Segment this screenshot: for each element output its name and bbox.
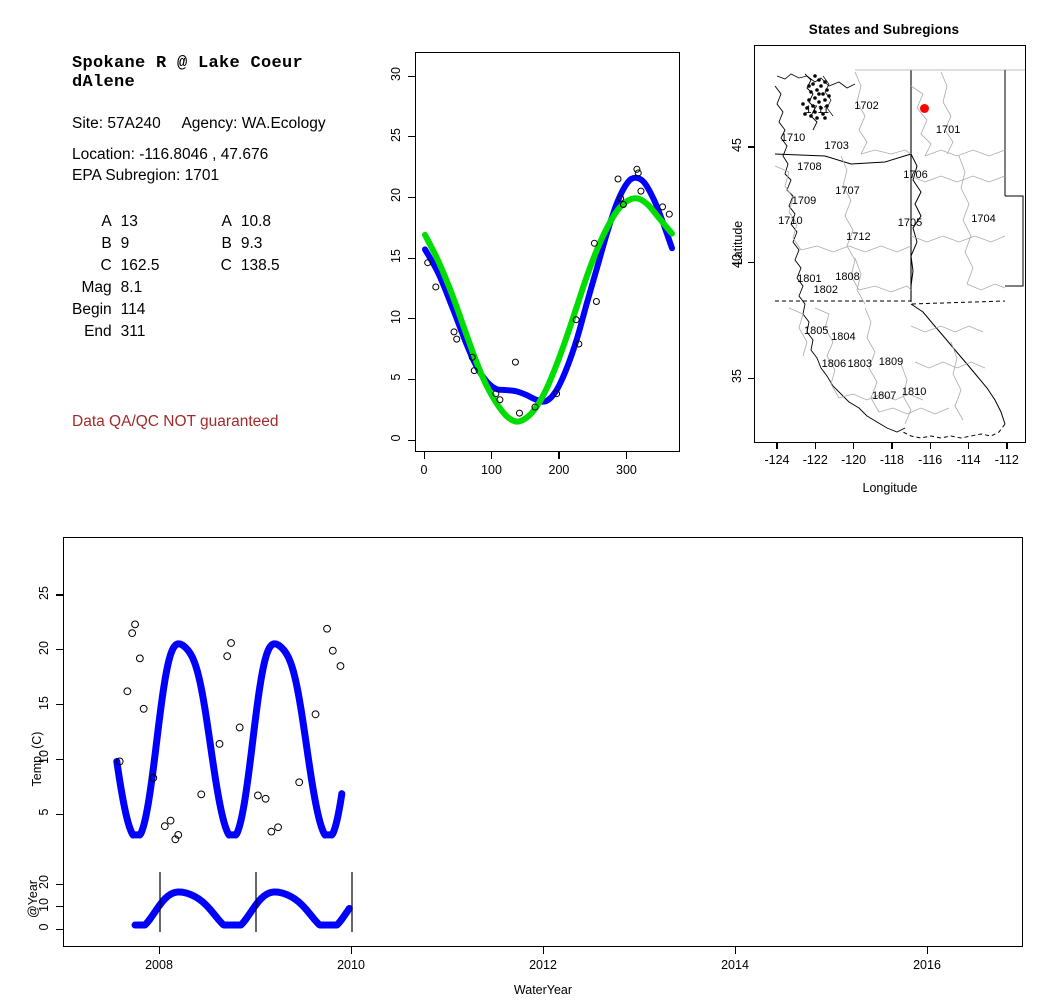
seasonal-xtick-label: 0 xyxy=(408,463,440,477)
map-subregion-label: 1807 xyxy=(872,390,896,402)
seasonal-ytick-label: 0 xyxy=(389,427,403,449)
ts-xtick-label: 2016 xyxy=(903,958,951,972)
stats-label-secondary xyxy=(195,322,241,344)
seasonal-xtick-label: 100 xyxy=(475,463,507,477)
axis-tick xyxy=(408,440,415,441)
ts-ytick-label: 25 xyxy=(37,582,51,604)
map-subregion-label: 1708 xyxy=(797,161,821,173)
map-geometry-svg xyxy=(755,46,1027,444)
epa-subregion-line: EPA Subregion: 1701 xyxy=(72,167,219,185)
stats-label: B xyxy=(72,234,121,256)
axis-tick xyxy=(351,947,352,954)
seasonal-plot-panel: 0510152025300100200300 xyxy=(380,30,700,500)
map-subregion-label: 1705 xyxy=(898,217,922,229)
site-info-panel: Spokane R @ Lake Coeur dAlene Site: 57A2… xyxy=(0,0,380,500)
map-xtick-label: -114 xyxy=(951,453,987,467)
axis-tick xyxy=(853,443,854,449)
stats-value-secondary: 9.3 xyxy=(241,234,315,256)
axis-tick xyxy=(558,452,559,459)
axis-tick xyxy=(56,906,63,907)
axis-tick xyxy=(159,947,160,954)
axis-tick xyxy=(543,947,544,954)
axis-tick xyxy=(56,704,63,705)
axis-tick xyxy=(491,452,492,459)
axis-tick xyxy=(424,452,425,459)
ts-xtick-label: 2010 xyxy=(327,958,375,972)
stats-row: C162.5C138.5 xyxy=(72,256,315,278)
stats-label-secondary: B xyxy=(195,234,241,256)
stats-value: 8.1 xyxy=(121,278,195,300)
ts-xaxis-title: WaterYear xyxy=(63,983,1023,997)
seasonal-xtick-label: 300 xyxy=(610,463,642,477)
stats-value: 13 xyxy=(121,212,195,234)
map-subregion-label: 1701 xyxy=(936,124,960,136)
axis-tick xyxy=(408,76,415,77)
axis-tick xyxy=(815,443,816,449)
axis-tick xyxy=(408,318,415,319)
axis-tick xyxy=(408,258,415,259)
stats-label: Mag xyxy=(72,278,121,300)
seasonal-xtick-label: 200 xyxy=(543,463,575,477)
seasonal-ytick-label: 30 xyxy=(389,63,403,85)
stats-label: End xyxy=(72,322,121,344)
map-subregion-label: 1704 xyxy=(971,213,995,225)
map-subregion-label: 1702 xyxy=(854,100,878,112)
stats-value: 114 xyxy=(121,300,195,322)
ts-yaxis-title-secondary: @Year xyxy=(26,849,40,949)
seasonal-ytick-label: 15 xyxy=(389,245,403,267)
map-subregion-label: 1710 xyxy=(778,215,802,227)
map-title: States and Subregions xyxy=(730,22,1038,37)
stats-label: C xyxy=(72,256,121,278)
ts-yaxis-title: Temp. (C) xyxy=(30,699,44,819)
ts-xtick-label: 2008 xyxy=(135,958,183,972)
axis-tick xyxy=(626,452,627,459)
stats-label-secondary xyxy=(195,278,241,300)
axis-tick xyxy=(56,649,63,650)
axis-tick xyxy=(1006,443,1007,449)
map-subregion-label: 1809 xyxy=(879,356,903,368)
stats-row: End311 xyxy=(72,322,315,344)
map-yaxis-title: Latitude xyxy=(731,193,745,293)
map-ytick-label: 35 xyxy=(730,365,744,387)
ts-ytick-label: 20 xyxy=(37,637,51,659)
qaqc-warning: Data QA/QC NOT guaranteed xyxy=(72,413,278,431)
seasonal-ytick-label: 10 xyxy=(389,306,403,328)
map-subregion-label: 1711 xyxy=(805,104,829,116)
axis-tick xyxy=(891,443,892,449)
map-xtick-label: -120 xyxy=(836,453,872,467)
site-marker-icon xyxy=(920,104,929,113)
axis-tick xyxy=(776,443,777,449)
map-panel: States and Subregions 171117021701171017… xyxy=(730,10,1038,510)
map-xaxis-title: Longitude xyxy=(754,481,1026,495)
map-xtick-label: -116 xyxy=(912,453,948,467)
axis-tick xyxy=(748,146,754,147)
page-title: Spokane R @ Lake Coeur dAlene xyxy=(72,54,372,92)
map-subregion-label: 1806 xyxy=(822,358,846,370)
seasonal-ytick-label: 25 xyxy=(389,124,403,146)
timeseries-plot-panel: 5101520250102020082010201220142016WaterY… xyxy=(0,510,1038,1001)
axis-tick xyxy=(748,378,754,379)
map-xtick-label: -112 xyxy=(989,453,1025,467)
stats-label-secondary xyxy=(195,300,241,322)
stats-label-secondary: C xyxy=(195,256,241,278)
map-subregion-label: 1707 xyxy=(835,185,859,197)
map-subregion-label: 1805 xyxy=(804,325,828,337)
location-line: Location: -116.8046 , 47.676 xyxy=(72,146,268,164)
site-agency-line: Site: 57A240 Agency: WA.Ecology xyxy=(72,115,326,133)
axis-tick xyxy=(735,947,736,954)
map-plot-area: 1711170217011710170317081706170717091705… xyxy=(754,45,1026,443)
map-xtick-label: -118 xyxy=(874,453,910,467)
axis-tick xyxy=(408,136,415,137)
map-subregion-label: 1802 xyxy=(813,284,837,296)
map-xtick-label: -124 xyxy=(759,453,795,467)
stats-value-secondary xyxy=(241,278,315,300)
axis-tick xyxy=(56,759,63,760)
stats-row: Mag8.1 xyxy=(72,278,315,300)
map-xtick-label: -122 xyxy=(797,453,833,467)
ts-xtick-label: 2014 xyxy=(711,958,759,972)
stats-label: Begin xyxy=(72,300,121,322)
seasonal-plot-svg xyxy=(416,53,681,453)
ts-xtick-label: 2012 xyxy=(519,958,567,972)
axis-tick xyxy=(56,594,63,595)
map-subregion-label: 1712 xyxy=(846,231,870,243)
axis-tick xyxy=(408,197,415,198)
stats-row: A13A10.8 xyxy=(72,212,315,234)
map-subregion-label: 1804 xyxy=(831,331,855,343)
map-subregion-label: 1703 xyxy=(824,140,848,152)
stats-label: A xyxy=(72,212,121,234)
map-subregion-label: 1808 xyxy=(835,271,859,283)
axis-tick xyxy=(56,929,63,930)
model-stats-table: A13A10.8B9B9.3C162.5C138.5Mag8.1Begin114… xyxy=(72,212,315,344)
timeseries-plot-area xyxy=(63,537,1023,947)
timeseries-plot-svg xyxy=(64,538,1024,948)
seasonal-ytick-label: 20 xyxy=(389,184,403,206)
axis-tick xyxy=(56,884,63,885)
map-subregion-label: 1803 xyxy=(847,358,871,370)
stats-row: B9B9.3 xyxy=(72,234,315,256)
seasonal-ytick-label: 5 xyxy=(389,366,403,388)
map-ytick-label: 45 xyxy=(730,134,744,156)
stats-value: 311 xyxy=(121,322,195,344)
stats-value-secondary: 138.5 xyxy=(241,256,315,278)
stats-value: 162.5 xyxy=(121,256,195,278)
stats-label-secondary: A xyxy=(195,212,241,234)
stats-row: Begin114 xyxy=(72,300,315,322)
axis-tick xyxy=(968,443,969,449)
map-subregion-label: 1706 xyxy=(903,169,927,181)
stats-value: 9 xyxy=(121,234,195,256)
map-subregion-label: 1810 xyxy=(902,386,926,398)
stats-value-secondary xyxy=(241,300,315,322)
stats-value-secondary xyxy=(241,322,315,344)
axis-tick xyxy=(930,443,931,449)
map-subregion-label: 1709 xyxy=(792,195,816,207)
map-subregion-label: 1710 xyxy=(781,132,805,144)
axis-tick xyxy=(748,262,754,263)
seasonal-plot-area xyxy=(415,52,680,452)
axis-tick xyxy=(408,379,415,380)
axis-tick xyxy=(56,814,63,815)
axis-tick xyxy=(927,947,928,954)
stats-value-secondary: 10.8 xyxy=(241,212,315,234)
